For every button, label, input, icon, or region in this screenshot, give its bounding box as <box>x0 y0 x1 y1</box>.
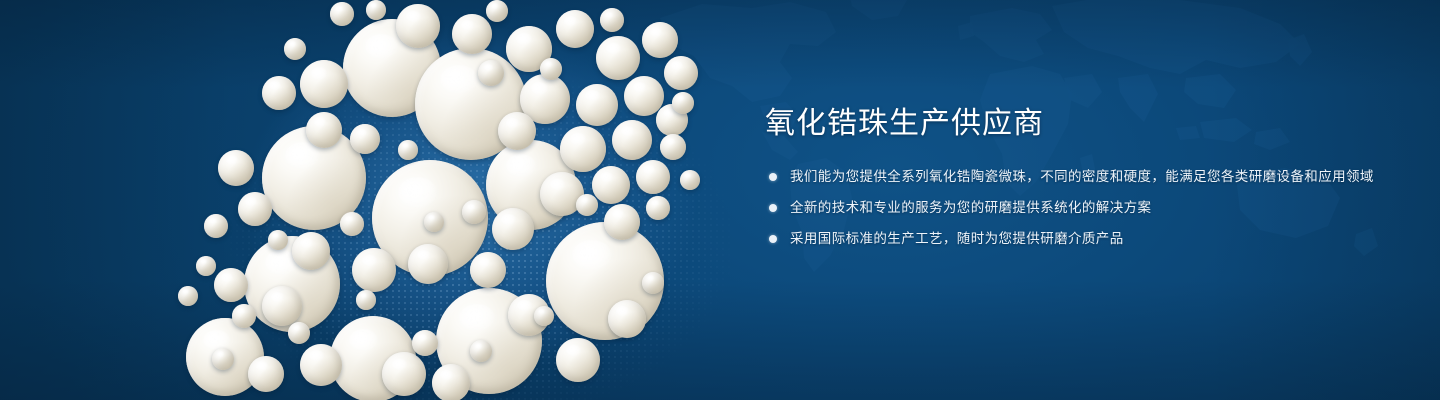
banner-copy: 氧化锆珠生产供应商 我们能为您提供全系列氧化锆陶瓷微珠，不同的密度和硬度，能满足… <box>765 104 1385 250</box>
bullet-dot-icon <box>769 173 777 181</box>
list-item: 我们能为您提供全系列氧化锆陶瓷微珠，不同的密度和硬度，能满足您各类研磨设备和应用… <box>765 166 1385 188</box>
feature-bullet-list: 我们能为您提供全系列氧化锆陶瓷微珠，不同的密度和硬度，能满足您各类研磨设备和应用… <box>765 166 1385 250</box>
bullet-dot-icon <box>769 204 777 212</box>
list-item-label: 全新的技术和专业的服务为您的研磨提供系统化的解决方案 <box>790 197 1385 219</box>
hero-banner: 氧化锆珠生产供应商 我们能为您提供全系列氧化锆陶瓷微珠，不同的密度和硬度，能满足… <box>0 0 1440 400</box>
list-item: 采用国际标准的生产工艺，随时为您提供研磨介质产品 <box>765 228 1385 250</box>
page-title: 氧化锆珠生产供应商 <box>765 104 1385 144</box>
bullet-dot-icon <box>769 235 777 243</box>
list-item: 全新的技术和专业的服务为您的研磨提供系统化的解决方案 <box>765 197 1385 219</box>
list-item-label: 采用国际标准的生产工艺，随时为您提供研磨介质产品 <box>790 228 1385 250</box>
list-item-label: 我们能为您提供全系列氧化锆陶瓷微珠，不同的密度和硬度，能满足您各类研磨设备和应用… <box>790 166 1385 188</box>
